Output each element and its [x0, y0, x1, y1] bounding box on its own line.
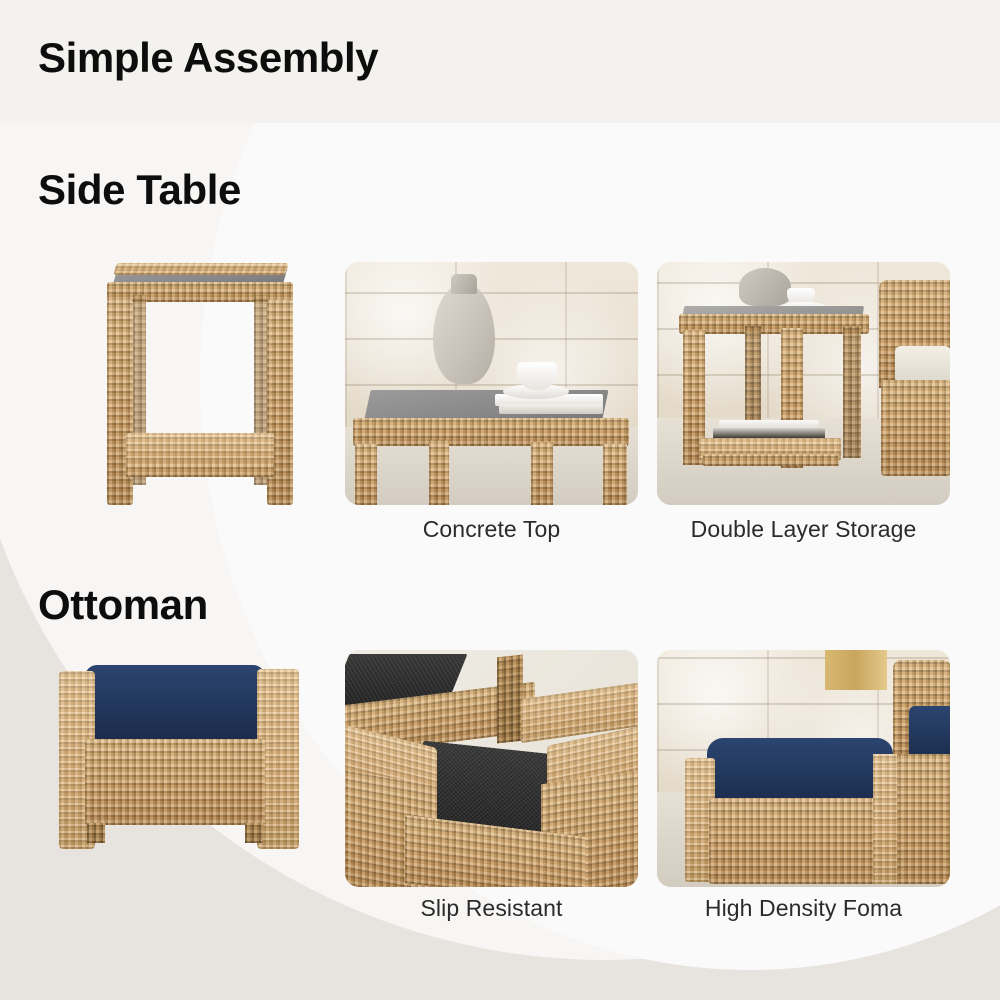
caption-high-density-foam: High Density Foma	[657, 895, 950, 922]
table-front-rail	[353, 418, 629, 446]
side-table-product-photo	[60, 255, 340, 510]
ottoman-post-right	[873, 754, 897, 884]
shelf-rail	[703, 454, 839, 466]
product-infographic: Simple Assembly Side Table	[0, 0, 1000, 1000]
table-leg-left	[355, 444, 377, 505]
wicker-divider-upper	[497, 655, 523, 744]
caption-double-layer-storage: Double Layer Storage	[657, 516, 950, 543]
side-table-shelf-rail	[126, 463, 274, 477]
caption-slip-resistant: Slip Resistant	[345, 895, 638, 922]
photo-card-concrete-top[interactable]	[345, 262, 638, 505]
side-table-back-rail	[113, 263, 288, 275]
ottoman-foot-right	[245, 823, 263, 843]
photo-card-slip-resistant[interactable]	[345, 650, 638, 887]
ottoman-front-panel	[709, 798, 879, 884]
photo-card-double-layer-storage[interactable]	[657, 262, 950, 505]
ceramic-vase	[433, 284, 495, 384]
armchair-base	[881, 380, 950, 476]
table-leg-mid	[429, 440, 449, 505]
bamboo-posts	[825, 650, 887, 690]
table-leg-back-right	[843, 326, 861, 458]
ceramic-vase	[739, 268, 791, 306]
photo-card-high-density-foam[interactable]	[657, 650, 950, 887]
page-title: Simple Assembly	[38, 36, 378, 80]
section-title-side-table: Side Table	[38, 168, 241, 212]
stacked-books-lower	[499, 404, 603, 414]
ottoman-navy-cushion	[85, 665, 265, 741]
armchair-cushion	[895, 346, 950, 384]
ottoman-product-photo	[45, 655, 325, 870]
table-leg-right-back	[603, 444, 627, 505]
caption-concrete-top: Concrete Top	[345, 516, 638, 543]
vase-neck	[451, 274, 477, 294]
ottoman-front-panel	[85, 739, 265, 825]
table-top-rail	[679, 314, 869, 334]
ottoman-navy-cushion	[707, 738, 893, 806]
table-leg-right-front	[531, 442, 553, 505]
side-table-lower-shelf	[126, 433, 274, 467]
ottoman-foot-left	[87, 823, 105, 843]
section-title-ottoman: Ottoman	[38, 583, 208, 627]
